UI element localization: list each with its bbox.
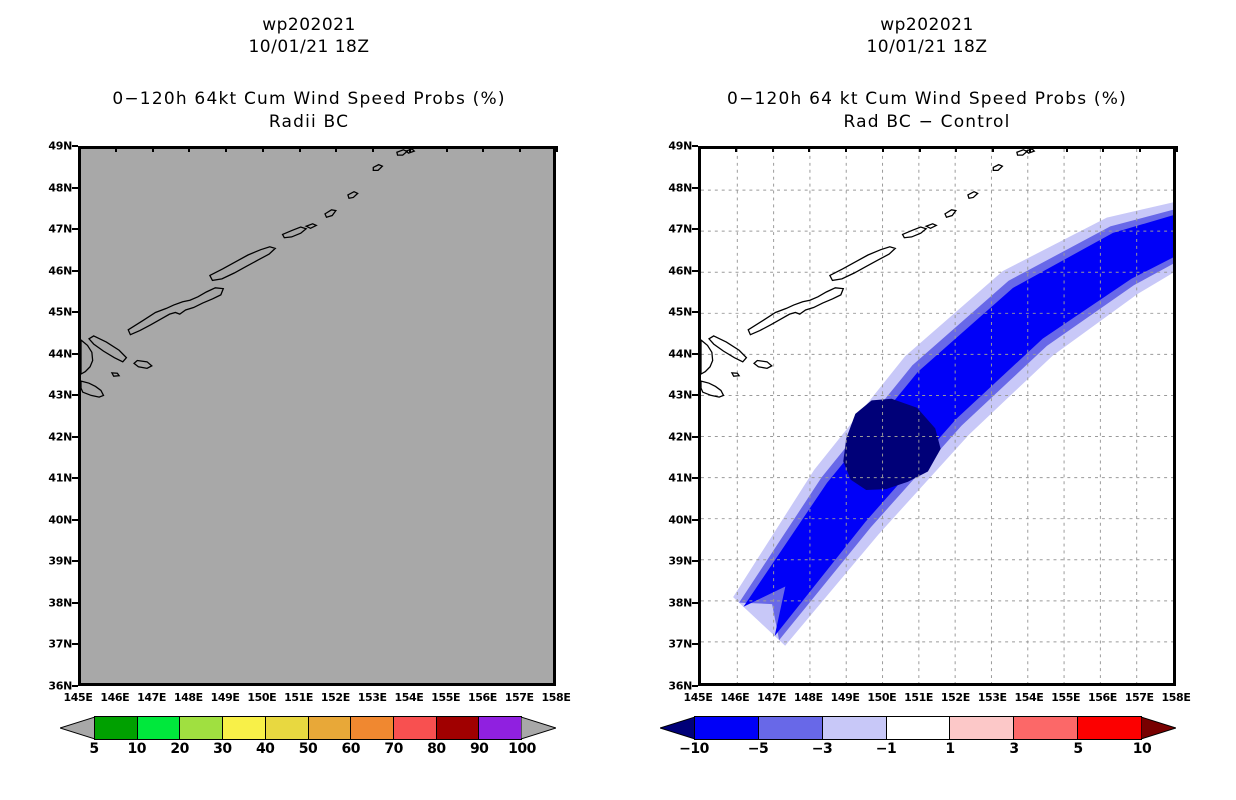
x-axis-tick-mark — [556, 146, 558, 152]
panel-left-storm-id: wp202021 — [0, 14, 618, 36]
colorbar-tick-label: −3 — [812, 741, 832, 757]
y-axis-tick-mark — [72, 353, 78, 355]
y-axis-tick-mark — [692, 519, 698, 521]
colorbar-tick-label: 90 — [470, 741, 488, 757]
colorbar-tick-label: 30 — [213, 741, 231, 757]
colorbar-left[interactable]: 5102030405060708090100 — [60, 716, 556, 740]
colorbar-swatch — [95, 717, 138, 739]
coastline-segment — [128, 288, 223, 335]
x-axis-tick-mark — [955, 146, 957, 152]
x-axis-tick-label: 152E — [941, 686, 970, 704]
colorbar-right-arrow-low-icon — [660, 716, 695, 740]
x-axis-tick-mark — [225, 146, 227, 152]
y-axis-tick-mark — [72, 477, 78, 479]
panel-right-title: 0−120h 64 kt Cum Wind Speed Probs (%) — [618, 88, 1236, 111]
colorbar-swatch — [266, 717, 309, 739]
y-axis-tick-mark — [72, 394, 78, 396]
coastline-segment — [926, 224, 936, 229]
x-axis-tick-label: 154E — [394, 686, 423, 704]
coastline-segment — [732, 373, 739, 376]
x-axis-tick-mark — [152, 146, 154, 152]
colorbar-left-arrow-high-icon — [521, 716, 556, 740]
y-axis-tick-mark — [72, 436, 78, 438]
x-axis-tick-label: 156E — [468, 686, 497, 704]
colorbar-swatch — [887, 717, 951, 739]
colorbar-tick-label: 80 — [427, 741, 445, 757]
x-axis-tick-label: 147E — [757, 686, 786, 704]
x-axis-tick-label: 158E — [542, 686, 571, 704]
y-axis-tick-mark — [692, 643, 698, 645]
x-axis-tick-mark — [372, 146, 374, 152]
map-left[interactable]: 36N37N38N39N40N41N42N43N44N45N46N47N48N4… — [78, 146, 556, 686]
x-axis-tick-mark — [115, 146, 117, 152]
panel-right-header: wp202021 10/01/21 18Z — [618, 14, 1236, 58]
x-axis-tick-label: 148E — [174, 686, 203, 704]
x-axis-tick-label: 145E — [684, 686, 713, 704]
y-axis-tick-mark — [72, 228, 78, 230]
y-axis-tick-mark — [72, 560, 78, 562]
coastline-segment — [709, 336, 746, 362]
y-axis-tick-mark — [692, 560, 698, 562]
x-axis-tick-mark — [482, 146, 484, 152]
panel-left: wp202021 10/01/21 18Z 0−120h 64kt Cum Wi… — [0, 0, 618, 800]
colorbar-swatch — [759, 717, 823, 739]
y-axis-tick-mark — [692, 187, 698, 189]
panel-left-title: 0−120h 64kt Cum Wind Speed Probs (%) — [0, 88, 618, 111]
x-axis-tick-label: 146E — [720, 686, 749, 704]
colorbar-swatch — [394, 717, 437, 739]
y-axis-tick-mark — [692, 270, 698, 272]
x-axis-tick-label: 149E — [831, 686, 860, 704]
colorbar-tick-label: 3 — [1009, 741, 1018, 757]
map-left-frame — [78, 146, 556, 686]
map-right-frame — [698, 146, 1176, 686]
x-axis-tick-mark — [808, 146, 810, 152]
coastline-segment — [701, 381, 724, 397]
x-axis-tick-mark — [188, 146, 190, 152]
map-right-contour-layer — [701, 149, 1173, 683]
coastline-segment — [81, 381, 104, 397]
coastline-segment — [283, 227, 307, 238]
coastline-segment — [748, 288, 843, 335]
colorbar-tick-label: −5 — [748, 741, 768, 757]
colorbar-right-arrow-high-icon — [1141, 716, 1176, 740]
map-right[interactable]: 36N37N38N39N40N41N42N43N44N45N46N47N48N4… — [698, 146, 1176, 686]
x-axis-tick-mark — [845, 146, 847, 152]
colorbar-tick-label: 50 — [299, 741, 317, 757]
x-axis-tick-label: 156E — [1088, 686, 1117, 704]
coastline-segment — [306, 224, 316, 229]
x-axis-tick-label: 153E — [978, 686, 1007, 704]
colorbar-swatch — [437, 717, 480, 739]
x-axis-tick-label: 147E — [137, 686, 166, 704]
x-axis-tick-mark — [735, 146, 737, 152]
panel-left-subtitle: Radii BC — [0, 111, 618, 134]
coastline-segment — [968, 192, 978, 199]
colorbar-tick-label: 40 — [256, 741, 274, 757]
x-axis-tick-mark — [919, 146, 921, 152]
coastline-segment — [830, 247, 895, 281]
x-axis-tick-mark — [78, 146, 80, 152]
colorbar-swatch — [309, 717, 352, 739]
coastline-segment — [210, 247, 275, 281]
colorbar-left-blocks — [94, 716, 522, 740]
coastline-segment — [325, 210, 336, 217]
x-axis-tick-label: 155E — [431, 686, 460, 704]
coastline-segment — [903, 227, 927, 238]
panel-right-title-block: 0−120h 64 kt Cum Wind Speed Probs (%) Ra… — [618, 88, 1236, 134]
coastline-segment — [112, 373, 119, 376]
map-left-coastline-layer — [81, 149, 553, 683]
panel-right-storm-id: wp202021 — [618, 14, 1236, 36]
colorbar-tick-label: 1 — [945, 741, 954, 757]
probability-difference-contours — [733, 199, 1173, 645]
x-axis-tick-label: 157E — [1125, 686, 1154, 704]
x-axis-tick-label: 158E — [1162, 686, 1191, 704]
colorbar-swatch — [180, 717, 223, 739]
colorbar-right[interactable]: −10−5−3−113510 — [660, 716, 1176, 740]
coastline-segment — [81, 340, 93, 374]
colorbar-swatch — [950, 717, 1014, 739]
x-axis-tick-label: 149E — [211, 686, 240, 704]
colorbar-swatch — [138, 717, 181, 739]
colorbar-tick-label: 10 — [1133, 741, 1151, 757]
x-axis-tick-mark — [992, 146, 994, 152]
x-axis-tick-label: 148E — [794, 686, 823, 704]
x-axis-tick-mark — [409, 146, 411, 152]
y-axis-tick-mark — [692, 477, 698, 479]
panel-right-subtitle: Rad BC − Control — [618, 111, 1236, 134]
x-axis-tick-mark — [299, 146, 301, 152]
y-axis-tick-mark — [692, 311, 698, 313]
colorbar-tick-label: 100 — [508, 741, 536, 757]
x-axis-tick-label: 146E — [100, 686, 129, 704]
x-axis-tick-label: 145E — [64, 686, 93, 704]
x-axis-tick-mark — [1176, 146, 1178, 152]
y-axis-tick-mark — [72, 519, 78, 521]
y-axis-tick-mark — [692, 602, 698, 604]
colorbar-right-blocks — [694, 716, 1142, 740]
panel-right-datetime: 10/01/21 18Z — [618, 36, 1236, 58]
colorbar-tick-label: 70 — [384, 741, 402, 757]
x-axis-tick-mark — [1139, 146, 1141, 152]
panel-left-header: wp202021 10/01/21 18Z — [0, 14, 618, 58]
colorbar-right-labels: −10−5−3−113510 — [694, 741, 1142, 761]
panel-right: wp202021 10/01/21 18Z 0−120h 64 kt Cum W… — [618, 0, 1236, 800]
colorbar-tick-label: 60 — [342, 741, 360, 757]
coastline-segment — [89, 336, 126, 362]
x-axis-tick-mark — [772, 146, 774, 152]
x-axis-tick-mark — [446, 146, 448, 152]
colorbar-left-arrow-low-icon — [60, 716, 95, 740]
x-axis-tick-mark — [262, 146, 264, 152]
y-axis-tick-mark — [72, 602, 78, 604]
coastline-kuril-islands — [81, 149, 414, 397]
x-axis-tick-label: 157E — [505, 686, 534, 704]
y-axis-tick-mark — [692, 353, 698, 355]
x-axis-tick-label: 150E — [247, 686, 276, 704]
y-axis-tick-mark — [72, 643, 78, 645]
colorbar-tick-label: −10 — [679, 741, 709, 757]
y-axis-tick-mark — [692, 228, 698, 230]
colorbar-tick-label: 20 — [170, 741, 188, 757]
colorbar-tick-label: 5 — [1073, 741, 1082, 757]
x-axis-tick-label: 154E — [1014, 686, 1043, 704]
coastline-segment — [134, 361, 152, 369]
panel-left-datetime: 10/01/21 18Z — [0, 36, 618, 58]
x-axis-tick-mark — [698, 146, 700, 152]
y-axis-tick-mark — [692, 394, 698, 396]
colorbar-tick-label: 10 — [128, 741, 146, 757]
x-axis-tick-mark — [335, 146, 337, 152]
y-axis-tick-mark — [692, 436, 698, 438]
colorbar-swatch — [479, 717, 521, 739]
x-axis-tick-label: 151E — [904, 686, 933, 704]
coastline-segment — [945, 210, 956, 217]
colorbar-swatch — [351, 717, 394, 739]
colorbar-swatch — [1078, 717, 1141, 739]
y-axis-tick-mark — [72, 187, 78, 189]
x-axis-tick-mark — [882, 146, 884, 152]
x-axis-tick-mark — [1102, 146, 1104, 152]
x-axis-tick-label: 152E — [321, 686, 350, 704]
colorbar-swatch — [823, 717, 887, 739]
x-axis-tick-mark — [1066, 146, 1068, 152]
coastline-segment — [348, 192, 358, 199]
coastline-segment — [754, 361, 772, 369]
x-axis-tick-label: 150E — [867, 686, 896, 704]
colorbar-left-labels: 5102030405060708090100 — [94, 741, 522, 761]
coastline-segment — [701, 340, 713, 374]
x-axis-tick-mark — [519, 146, 521, 152]
x-axis-tick-mark — [1029, 146, 1031, 152]
coastline-segment — [373, 165, 382, 171]
x-axis-tick-label: 155E — [1051, 686, 1080, 704]
coastline-segment — [993, 165, 1002, 171]
figure-root: wp202021 10/01/21 18Z 0−120h 64kt Cum Wi… — [0, 0, 1236, 800]
y-axis-tick-mark — [72, 270, 78, 272]
colorbar-swatch — [695, 717, 759, 739]
colorbar-tick-label: −1 — [876, 741, 896, 757]
colorbar-swatch — [223, 717, 266, 739]
colorbar-swatch — [1014, 717, 1078, 739]
colorbar-tick-label: 5 — [89, 741, 98, 757]
x-axis-tick-label: 151E — [284, 686, 313, 704]
x-axis-tick-label: 153E — [358, 686, 387, 704]
panel-left-title-block: 0−120h 64kt Cum Wind Speed Probs (%) Rad… — [0, 88, 618, 134]
y-axis-tick-mark — [72, 311, 78, 313]
